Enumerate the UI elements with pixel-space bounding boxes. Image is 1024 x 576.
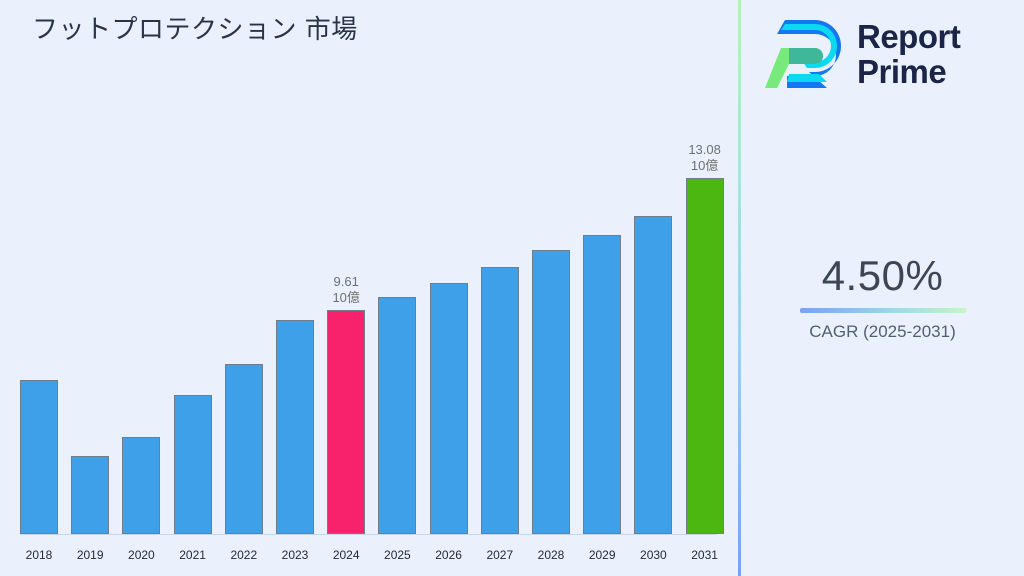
bar-2021[interactable]: [174, 395, 212, 534]
bar-group: 13.0810億2031: [686, 114, 724, 534]
x-tick-2027: 2027: [486, 548, 513, 562]
x-tick-2023: 2023: [282, 548, 309, 562]
bar-value-label-2024: 9.6110億: [332, 274, 359, 306]
x-axis-line: [20, 534, 717, 535]
report-prime-monogram-icon: [763, 14, 847, 94]
bar-group: 2025: [378, 114, 416, 534]
x-tick-2018: 2018: [26, 548, 53, 562]
bar-group: 2029: [583, 114, 621, 534]
bar-group: 2023: [276, 114, 314, 534]
x-tick-2026: 2026: [435, 548, 462, 562]
bar-2022[interactable]: [225, 364, 263, 534]
x-tick-2031: 2031: [691, 548, 718, 562]
x-tick-2030: 2030: [640, 548, 667, 562]
x-tick-2025: 2025: [384, 548, 411, 562]
bar-2025[interactable]: [378, 297, 416, 534]
bar-2024[interactable]: [327, 310, 365, 534]
bar-group: 2030: [634, 114, 672, 534]
bar-value-label-2031: 13.0810億: [688, 142, 721, 174]
bar-2029[interactable]: [583, 235, 621, 534]
bar-group: 2020: [122, 114, 160, 534]
chart-panel: フットプロテクション 市場 2018201920202021202220239.…: [0, 0, 738, 576]
bar-2031[interactable]: [686, 178, 724, 534]
bar-2020[interactable]: [122, 437, 160, 534]
brand-name-line2: Prime: [857, 54, 960, 89]
bar-group: 2019: [71, 114, 109, 534]
bar-group: 2022: [225, 114, 263, 534]
bar-group: 2021: [174, 114, 212, 534]
bar-2023[interactable]: [276, 320, 314, 534]
brand-name-line1: Report: [857, 19, 960, 54]
bar-group: 9.6110億2024: [327, 114, 365, 534]
bar-group: 2027: [481, 114, 519, 534]
bar-2018[interactable]: [20, 380, 58, 534]
bar-2030[interactable]: [634, 216, 672, 534]
x-tick-2024: 2024: [333, 548, 360, 562]
x-tick-2020: 2020: [128, 548, 155, 562]
bar-group: 2028: [532, 114, 570, 534]
bar-2019[interactable]: [71, 456, 109, 534]
bar-2027[interactable]: [481, 267, 519, 534]
x-tick-2021: 2021: [179, 548, 206, 562]
report-prime-logo: Report Prime: [763, 12, 1013, 96]
bar-group: 2026: [430, 114, 468, 534]
cagr-caption: CAGR (2025-2031): [741, 321, 1024, 343]
bar-group: 2018: [20, 114, 58, 534]
x-tick-2029: 2029: [589, 548, 616, 562]
cagr-block: 4.50% CAGR (2025-2031): [741, 250, 1024, 343]
brand-panel: Report Prime 4.50% CAGR (2025-2031): [741, 0, 1024, 576]
cagr-divider: [800, 308, 966, 313]
bar-chart-plot-area: 2018201920202021202220239.6110億202420252…: [0, 0, 738, 576]
market-chart-infographic: フットプロテクション 市場 2018201920202021202220239.…: [0, 0, 1024, 576]
brand-wordmark: Report Prime: [857, 19, 960, 89]
bar-2028[interactable]: [532, 250, 570, 534]
cagr-value: 4.50%: [741, 250, 1024, 302]
bar-2026[interactable]: [430, 283, 468, 534]
x-tick-2022: 2022: [230, 548, 257, 562]
x-tick-2028: 2028: [538, 548, 565, 562]
x-tick-2019: 2019: [77, 548, 104, 562]
